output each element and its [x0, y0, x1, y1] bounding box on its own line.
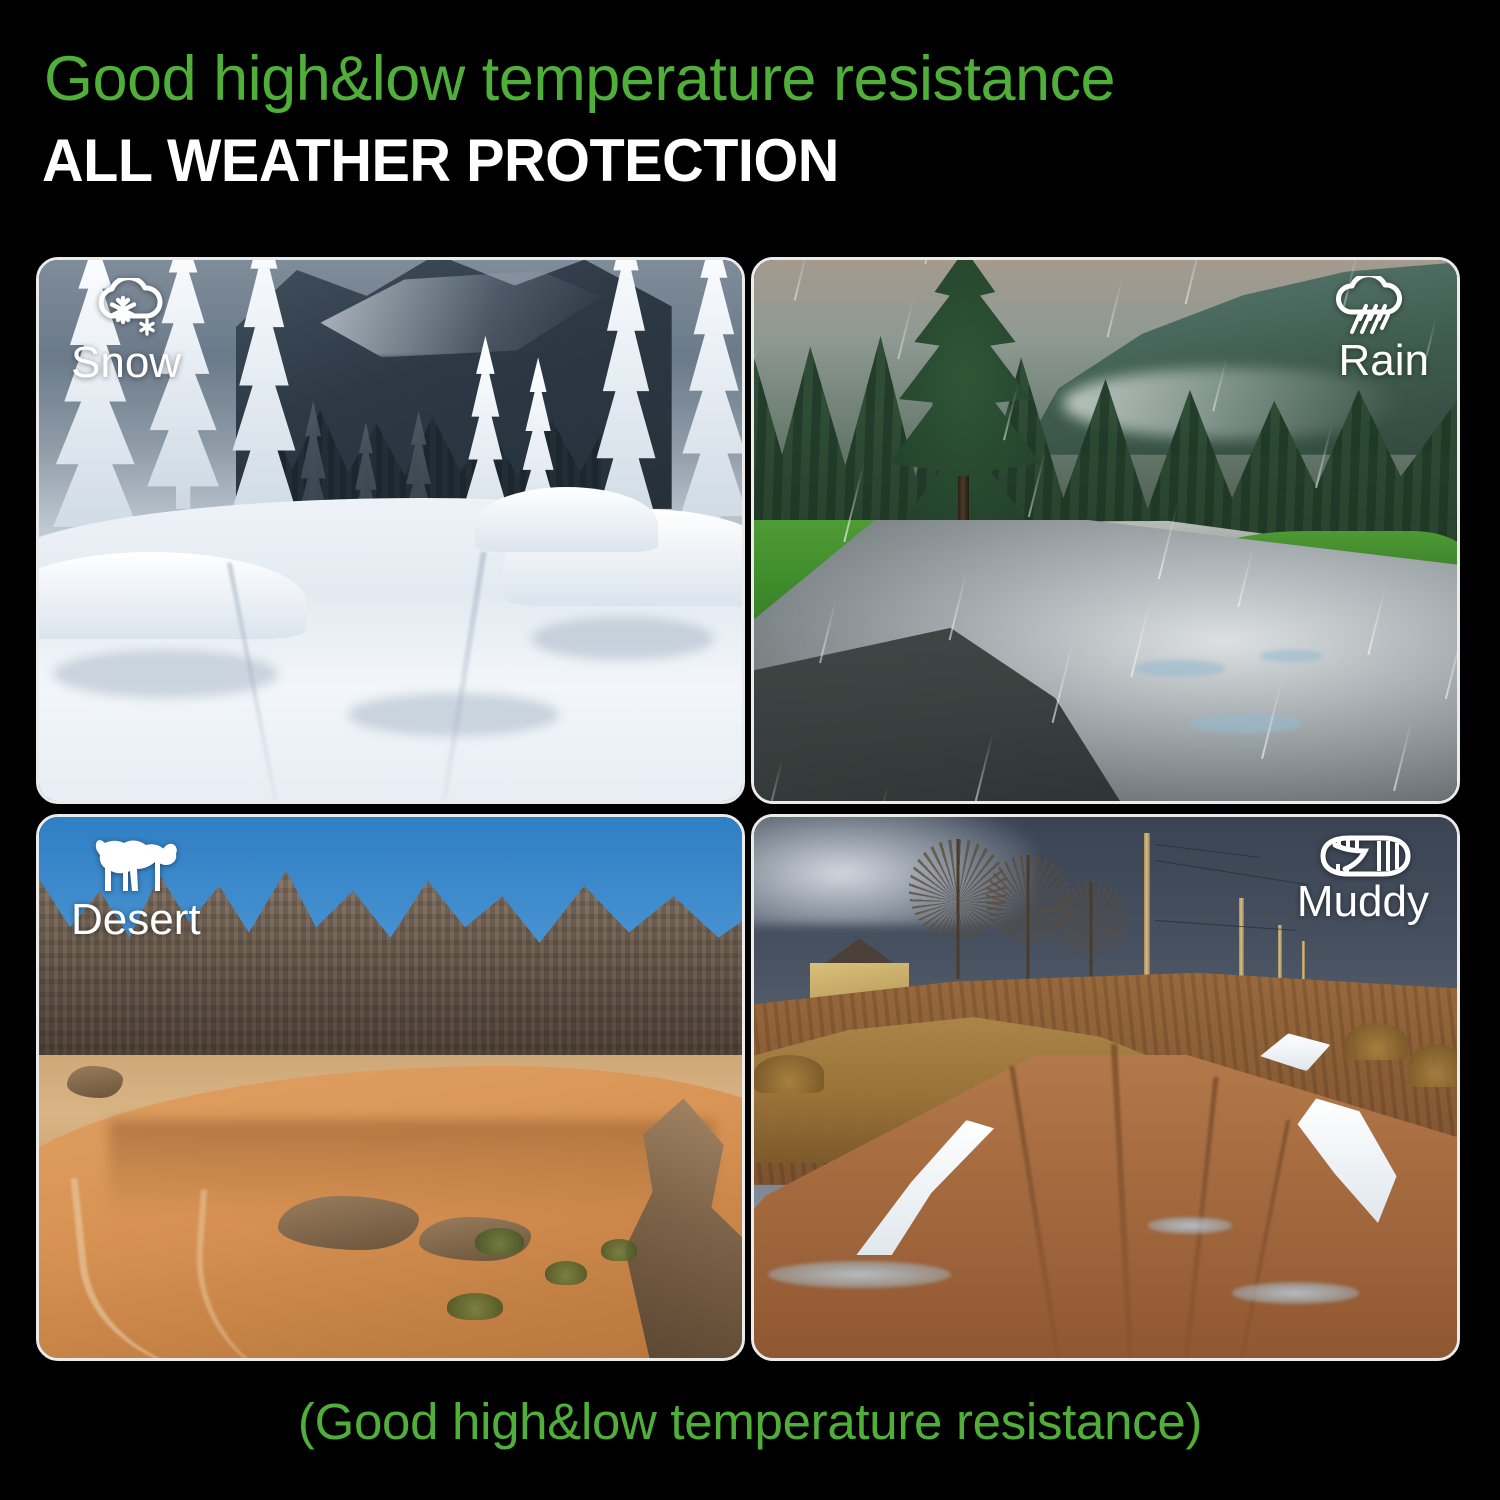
badge-rain: Rain: [1325, 276, 1431, 383]
badge-desert: Desert: [65, 835, 201, 942]
badge-label-desert: Desert: [71, 898, 201, 942]
cloud-rain-icon: [1325, 276, 1413, 343]
badge-snow: Snow: [65, 278, 181, 385]
weather-panel-muddy[interactable]: Muddy: [751, 814, 1460, 1361]
page-title-white: ALL WEATHER PROTECTION: [42, 131, 839, 191]
badge-label-rain: Rain: [1339, 339, 1430, 383]
poster-canvas: Good high&low temperature resistance ALL…: [0, 0, 1500, 1500]
weather-panel-snow[interactable]: Snow: [36, 257, 745, 804]
page-title-green: Good high&low temperature resistance: [44, 46, 1115, 112]
badge-muddy: Muddy: [1297, 833, 1431, 924]
footer-caption: (Good high&low temperature resistance): [0, 1392, 1500, 1451]
weather-panel-grid: Snow: [36, 257, 1460, 1361]
badge-label-snow: Snow: [71, 341, 181, 385]
cloud-snow-icon: [87, 278, 171, 345]
badge-label-muddy: Muddy: [1297, 880, 1429, 924]
camel-icon: [87, 835, 183, 902]
weather-panel-rain[interactable]: Rain: [751, 257, 1460, 804]
weather-panel-desert[interactable]: Desert: [36, 814, 745, 1361]
